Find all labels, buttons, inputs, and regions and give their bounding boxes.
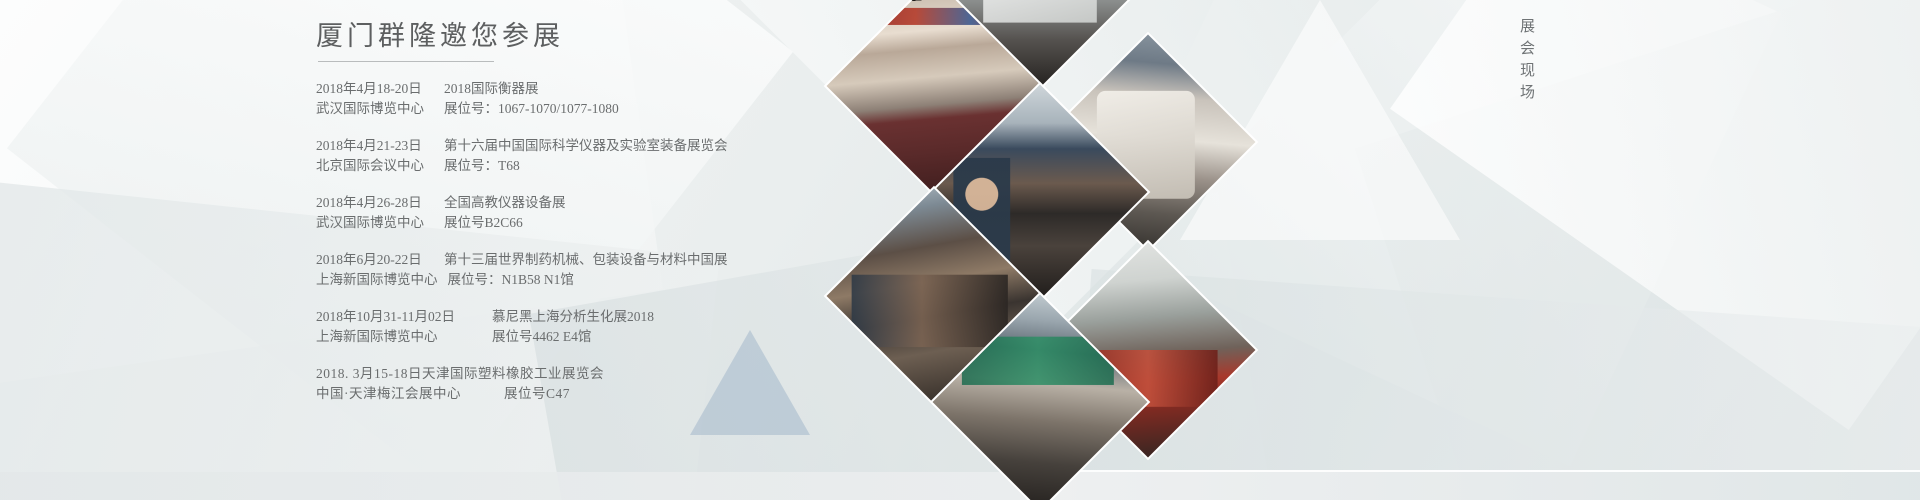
bottom-band	[0, 472, 1920, 500]
entry-booth: 展位号：1067-1070/1077-1080	[434, 99, 619, 119]
entry-booth: 展位号4462 E4馆	[482, 327, 591, 347]
entry-event: 慕尼黑上海分析生化展2018	[482, 307, 654, 327]
entry-venue: 北京国际会议中心	[316, 156, 434, 176]
background-facet-6	[1355, 0, 1920, 500]
entry-booth: 展位号B2C66	[434, 213, 523, 233]
entry-booth: 展位号：N1B58 N1馆	[438, 270, 574, 290]
entry-date: 2018. 3月15-18日天津国际塑料橡胶工业展览会	[316, 366, 604, 381]
entry-event: 全国高教仪器设备展	[434, 193, 566, 213]
entry-venue: 武汉国际博览中心	[316, 99, 434, 119]
entry-date: 2018年10月31-11月02日	[316, 307, 482, 327]
entry-venue: 上海新国际博览中心	[316, 327, 482, 347]
entry-event: 第十六届中国国际科学仪器及实验室装备展览会	[434, 136, 728, 156]
entry-booth: 展位号C47	[494, 384, 570, 404]
photo-collage	[836, 6, 1236, 406]
entry-venue: 中国·天津梅江会展中心	[316, 384, 494, 404]
exhibition-banner: 厦门群隆邀您参展 2018年4月18-20日2018国际衡器展 武汉国际博览中心…	[0, 0, 1920, 500]
entry-booth: 展位号：T68	[434, 156, 520, 176]
entry-date: 2018年6月20-22日	[316, 250, 434, 270]
bottom-white-band	[1060, 470, 1920, 500]
entry-venue: 武汉国际博览中心	[316, 213, 434, 233]
entry-date: 2018年4月26-28日	[316, 193, 434, 213]
entry-venue: 上海新国际博览中心	[316, 270, 438, 290]
vertical-caption: 展会现场	[1516, 18, 1537, 106]
entry-date: 2018年4月18-20日	[316, 79, 434, 99]
entry-date: 2018年4月21-23日	[316, 136, 434, 156]
entry-event: 第十三届世界制药机械、包装设备与材料中国展	[434, 250, 728, 270]
title-underline	[318, 61, 494, 62]
entry-event: 2018国际衡器展	[434, 79, 539, 99]
background-facet-7	[1390, 0, 1920, 430]
